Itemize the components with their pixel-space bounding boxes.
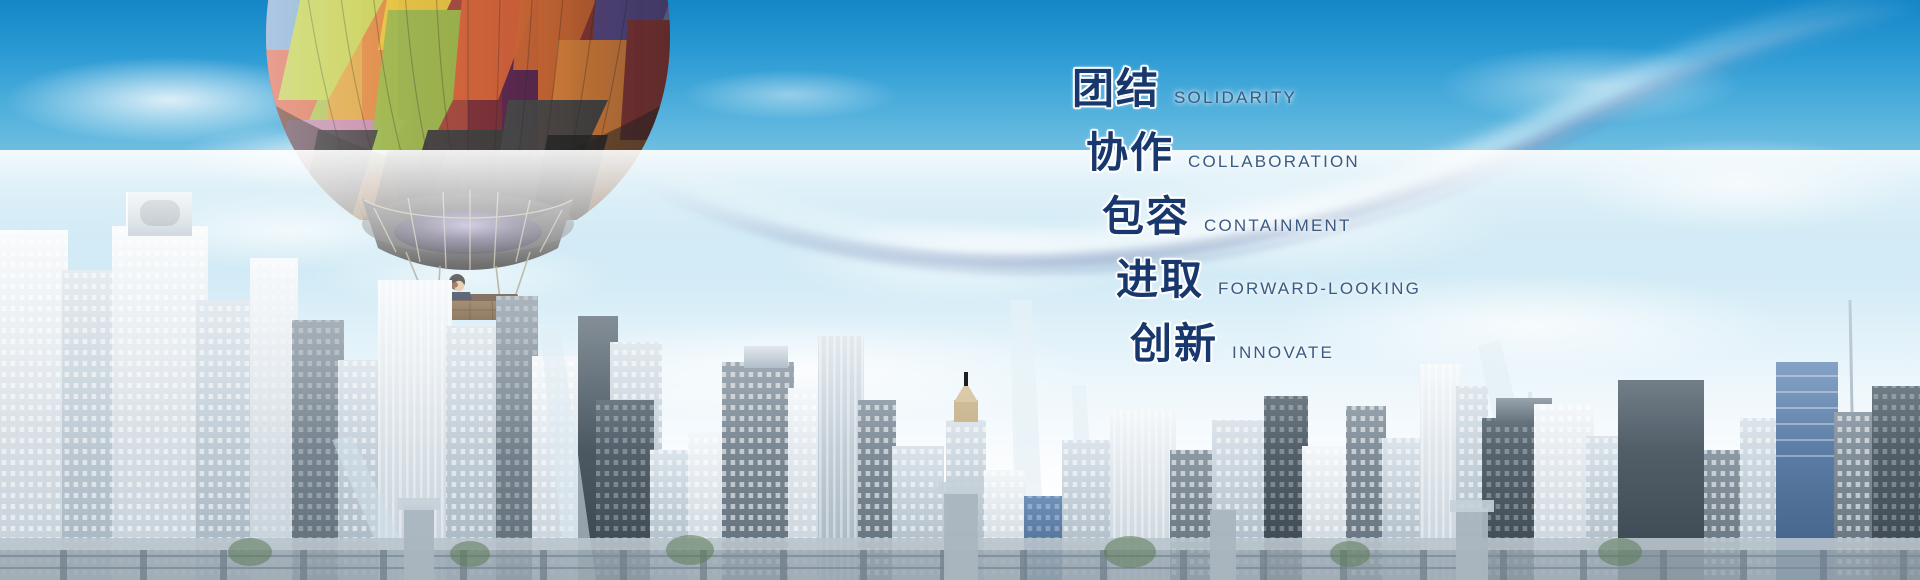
slogan-row: 创新 INNOVATE: [1060, 317, 1580, 371]
slogan-cn: 包容: [1102, 190, 1190, 244]
slogan-cn: 协作: [1086, 126, 1174, 180]
slogan-list: 团结 SOLIDARITY 协作 COLLABORATION 包容 CONTAI…: [1060, 62, 1580, 381]
slogan-cn: 进取: [1116, 253, 1204, 307]
slogan-en: COLLABORATION: [1188, 152, 1360, 172]
sky-background: [0, 0, 1920, 580]
slogan-cn: 团结: [1072, 62, 1160, 116]
slogan-en: SOLIDARITY: [1174, 88, 1297, 108]
slogan-row: 进取 FORWARD-LOOKING: [1060, 253, 1580, 307]
slogan-en: INNOVATE: [1232, 343, 1334, 363]
slogan-en: CONTAINMENT: [1204, 216, 1352, 236]
slogan-cn: 创新: [1130, 317, 1218, 371]
slogan-row: 包容 CONTAINMENT: [1060, 190, 1580, 244]
slogan-row: 协作 COLLABORATION: [1060, 126, 1580, 180]
hero-banner: 团结 SOLIDARITY 协作 COLLABORATION 包容 CONTAI…: [0, 0, 1920, 580]
slogan-en: FORWARD-LOOKING: [1218, 279, 1421, 299]
slogan-row: 团结 SOLIDARITY: [1060, 62, 1580, 116]
